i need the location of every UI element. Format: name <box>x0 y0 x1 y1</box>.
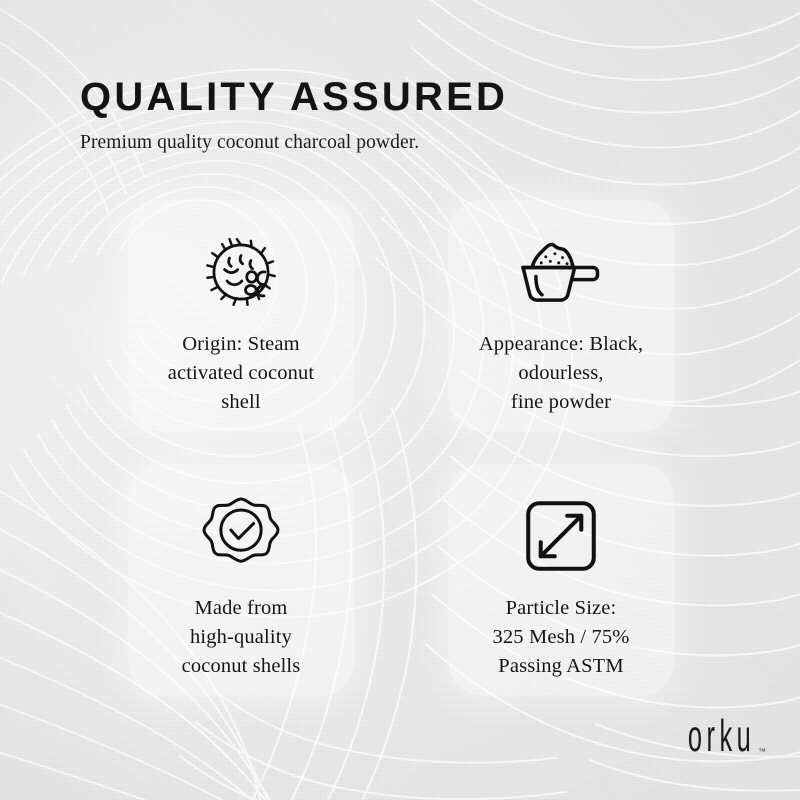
coconut-icon <box>195 226 287 318</box>
expand-arrows-square-icon <box>515 490 607 582</box>
page-subtitle: Premium quality coconut charcoal powder. <box>80 131 700 154</box>
feature-card-text: Appearance: Black, odourless, fine powde… <box>473 330 649 417</box>
poster: QUALITY ASSURED Premium quality coconut … <box>0 0 800 800</box>
measuring-scoop-powder-icon <box>515 226 607 318</box>
brand-logo-wordmark: orku <box>688 714 755 758</box>
feature-card-origin: Origin: Steam activated coconut shell <box>128 200 354 432</box>
feature-card-particle-size: Particle Size: 325 Mesh / 75% Passing AS… <box>448 464 674 696</box>
feature-card-grid: Origin: Steam activated coconut shell <box>128 200 674 696</box>
trademark-symbol: ™ <box>758 747 766 756</box>
feature-card-appearance: Appearance: Black, odourless, fine powde… <box>448 200 674 432</box>
feature-card-text: Particle Size: 325 Mesh / 75% Passing AS… <box>486 594 635 681</box>
feature-card-quality: Made from high-quality coconut shells <box>128 464 354 696</box>
feature-card-text: Made from high-quality coconut shells <box>176 594 307 681</box>
brand-logo: orku ™ <box>673 727 766 758</box>
header: QUALITY ASSURED Premium quality coconut … <box>80 76 700 154</box>
page-title: QUALITY ASSURED <box>80 76 700 118</box>
feature-card-text: Origin: Steam activated coconut shell <box>162 330 321 417</box>
quality-badge-check-icon <box>195 490 287 582</box>
